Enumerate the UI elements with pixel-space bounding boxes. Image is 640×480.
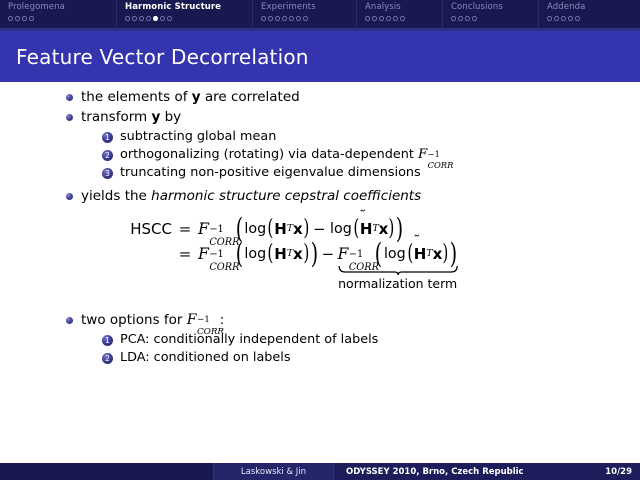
footer-page-number: 10/29 (588, 463, 640, 480)
bullet-3-text: yields the harmonic structure cepstral c… (81, 187, 421, 205)
minus-sign: − (318, 245, 337, 263)
enum-b-1-text: PCA: conditionally independent of labels (120, 331, 378, 348)
paren-close-inner: ) (443, 247, 449, 261)
nav-dot[interactable] (561, 16, 566, 21)
bullet-dot-icon (66, 114, 73, 121)
nav-dot[interactable] (393, 16, 398, 21)
bullet-1-text: the elements of y are correlated (81, 88, 300, 106)
calligraphic-F-inverse-corr: F−1CORR (187, 311, 220, 329)
bullet-2-post: by (160, 109, 181, 125)
nav-dot[interactable] (303, 16, 308, 21)
nav-section-analysis[interactable]: Analysis (356, 0, 442, 28)
paren-open-outer: ( (375, 245, 382, 262)
nav-section-label: Experiments (253, 2, 316, 13)
enum-badge-2: 2 (102, 353, 113, 364)
matrix-H-tilde: ̃H (360, 220, 373, 238)
hscc-label: HSCC (0, 220, 172, 238)
log-operator: log (243, 221, 267, 237)
paren-open-inner: ( (353, 222, 359, 236)
enum-b-2-text: LDA: conditioned on labels (120, 349, 291, 366)
nav-dot[interactable] (400, 16, 405, 21)
slide-body: the elements of y are correlated transfo… (0, 88, 640, 460)
nav-dot[interactable] (29, 16, 34, 21)
enum-badge-1: 1 (102, 132, 113, 143)
bullet-dot-icon (66, 317, 73, 324)
matrix-H: H (414, 245, 427, 263)
nav-dot[interactable] (379, 16, 384, 21)
nav-section-addenda[interactable]: Addenda (538, 0, 640, 28)
list-item: 3 truncating non-positive eigenvalue dim… (102, 164, 640, 181)
calF-subscript: CORR (428, 161, 454, 169)
nav-progress-dots (357, 16, 405, 21)
nav-dot[interactable] (261, 16, 266, 21)
nav-section-label: Addenda (539, 2, 585, 13)
nav-dot[interactable] (268, 16, 273, 21)
nav-dot[interactable] (289, 16, 294, 21)
nav-dot[interactable] (160, 16, 165, 21)
nav-dot[interactable] (554, 16, 559, 21)
slide-footer: Laskowski & Jin ODYSSEY 2010, Brno, Czec… (0, 463, 640, 480)
calF-glyph: F (338, 244, 349, 263)
enum-badge-2: 2 (102, 150, 113, 161)
paren-open-inner: ( (407, 247, 413, 261)
matrix-H: H (274, 245, 287, 263)
nav-dot[interactable] (167, 16, 172, 21)
calF-superscript: −1 (349, 250, 363, 260)
minus-sign: − (310, 220, 329, 238)
page-title: Feature Vector Decorrelation (0, 45, 309, 69)
paren-close-outer: ) (396, 220, 403, 237)
equals-sign-1: = (172, 220, 198, 238)
paren-close-inner: ) (389, 222, 395, 236)
vector-x: x (293, 220, 303, 238)
vector-x: x (433, 245, 443, 263)
nav-dot[interactable] (365, 16, 370, 21)
list-item: 1 subtracting global mean (102, 128, 640, 145)
matrix-H-tilde: ̃H (414, 245, 427, 263)
bullet-2-bold: y (151, 109, 160, 125)
nav-dot[interactable] (22, 16, 27, 21)
equals-sign-2: = (172, 245, 198, 263)
nav-progress-dots (253, 16, 308, 21)
nav-dot-current[interactable] (153, 16, 158, 21)
nav-section-conclusions[interactable]: Conclusions (442, 0, 538, 28)
nav-section-label: Analysis (357, 2, 401, 13)
calF-glyph: F (198, 219, 209, 238)
list-item: 2 orthogonalizing (rotating) via data-de… (102, 146, 640, 163)
nav-section-prolegomena[interactable]: Prolegomena (0, 0, 116, 28)
nav-progress-dots (539, 16, 580, 21)
enum-a-1-text: subtracting global mean (120, 128, 276, 145)
enum-a-2-text: orthogonalizing (rotating) via data-depe… (120, 146, 449, 163)
paren-close-outer: ) (310, 245, 317, 262)
matrix-H: H (360, 220, 373, 238)
paren-open-outer: ( (235, 245, 242, 262)
nav-section-label: Conclusions (443, 2, 503, 13)
nav-dot[interactable] (296, 16, 301, 21)
calligraphic-F-inverse-corr: F−1CORR (198, 244, 235, 263)
calF-superscript: −1 (209, 250, 223, 260)
nav-dot[interactable] (139, 16, 144, 21)
underbrace-icon (338, 265, 458, 276)
enum-a-3-text: truncating non-positive eigenvalue dimen… (120, 164, 421, 181)
list-item: 1 PCA: conditionally independent of labe… (102, 331, 640, 348)
nav-dot[interactable] (465, 16, 470, 21)
calF-glyph: F (418, 147, 427, 162)
calF-subscript: CORR (197, 328, 224, 337)
nav-dot[interactable] (15, 16, 20, 21)
bullet-1-post: are correlated (201, 89, 300, 105)
log-operator: log (243, 246, 267, 262)
nav-section-label: Harmonic Structure (117, 2, 221, 13)
matrix-H: H (274, 220, 287, 238)
nav-progress-dots (0, 16, 34, 21)
nav-dot[interactable] (132, 16, 137, 21)
nav-dot[interactable] (458, 16, 463, 21)
nav-dot[interactable] (282, 16, 287, 21)
footer-venue: ODYSSEY 2010, Brno, Czech Republic (333, 463, 588, 480)
nav-dot[interactable] (547, 16, 552, 21)
nav-dot[interactable] (275, 16, 280, 21)
equation-line-1: HSCC = F−1CORR ( log ( HTx ) − log ( ̃HT… (0, 219, 640, 238)
paren-close-inner: ) (303, 247, 309, 261)
equation-2-rhs: F−1CORR ( log ( HTx ) ) − F−1CORR ( log … (198, 244, 458, 263)
equation-1-rhs: F−1CORR ( log ( HTx ) − log ( ̃HTx ) ) (198, 219, 404, 238)
calligraphic-F-inverse-corr: F−1CORR (198, 219, 235, 238)
equation-block: HSCC = F−1CORR ( log ( HTx ) − log ( ̃HT… (0, 219, 640, 263)
equation-line-2: = F−1CORR ( log ( HTx ) ) − F−1CORR ( lo… (0, 244, 640, 263)
nav-dot[interactable] (372, 16, 377, 21)
calligraphic-F-inverse-corr: F−1CORR (418, 146, 449, 163)
bullet-dot-icon (66, 193, 73, 200)
nav-section-experiments[interactable]: Experiments (252, 0, 356, 28)
nav-dot[interactable] (146, 16, 151, 21)
vector-x: x (379, 220, 389, 238)
nav-dot[interactable] (451, 16, 456, 21)
paren-open-outer: ( (235, 220, 242, 237)
calF-superscript: −1 (197, 316, 210, 325)
bullet-1-bold: y (192, 89, 201, 105)
nav-progress-dots (117, 16, 172, 21)
list-item: transform y by (66, 108, 640, 126)
bullet-3-pre: yields the (81, 188, 151, 204)
list-item: the elements of y are correlated (66, 88, 640, 106)
nav-dot[interactable] (472, 16, 477, 21)
slide-title-bar: Feature Vector Decorrelation (0, 31, 640, 82)
underbrace-label: normalization term (338, 276, 458, 291)
paren-close-outer: ) (450, 245, 457, 262)
list-item: yields the harmonic structure cepstral c… (66, 187, 640, 205)
calF-glyph: F (187, 312, 197, 328)
nav-section-label: Prolegomena (0, 2, 65, 13)
nav-dot[interactable] (125, 16, 130, 21)
footer-spacer (0, 463, 213, 480)
list-item: two options for F−1CORR: (66, 311, 640, 329)
log-operator: log (383, 246, 407, 262)
enum-badge-3: 3 (102, 168, 113, 179)
bullet-3-italic: harmonic structure cepstral coefficients (151, 188, 421, 204)
enum-badge-1: 1 (102, 335, 113, 346)
calF-superscript: −1 (209, 225, 223, 235)
calF-superscript: −1 (428, 150, 440, 158)
paren-open-inner: ( (268, 247, 274, 261)
bullet-1-pre: the elements of (81, 89, 192, 105)
nav-dot[interactable] (575, 16, 580, 21)
calligraphic-F-inverse-corr: F−1CORR (338, 244, 375, 263)
bullet-4-text: two options for F−1CORR: (81, 311, 224, 329)
bullet-4-post: : (220, 312, 225, 328)
paren-open-inner: ( (268, 222, 274, 236)
nav-progress-dots (443, 16, 477, 21)
bullet-dot-icon (66, 94, 73, 101)
enum-a-2-label: orthogonalizing (rotating) via data-depe… (120, 147, 418, 162)
bullet-2-pre: transform (81, 109, 151, 125)
vector-x: x (293, 245, 303, 263)
nav-section-harmonic-structure[interactable]: Harmonic Structure (116, 0, 252, 28)
paren-close-inner: ) (303, 222, 309, 236)
log-operator: log (329, 221, 353, 237)
nav-dot[interactable] (8, 16, 13, 21)
calF-glyph: F (198, 244, 209, 263)
footer-authors: Laskowski & Jin (213, 463, 333, 480)
section-navigation-bar: ProlegomenaHarmonic StructureExperiments… (0, 0, 640, 28)
list-item: 2 LDA: conditioned on labels (102, 349, 640, 366)
bullet-4-pre: two options for (81, 312, 187, 328)
nav-dot[interactable] (386, 16, 391, 21)
bullet-2-text: transform y by (81, 108, 181, 126)
normalization-term-group: F−1CORR ( log ( ̃HTx ) ) normalization t… (338, 244, 458, 263)
tail-bullet-group: two options for F−1CORR: 1 PCA: conditio… (0, 311, 640, 366)
nav-dot[interactable] (568, 16, 573, 21)
